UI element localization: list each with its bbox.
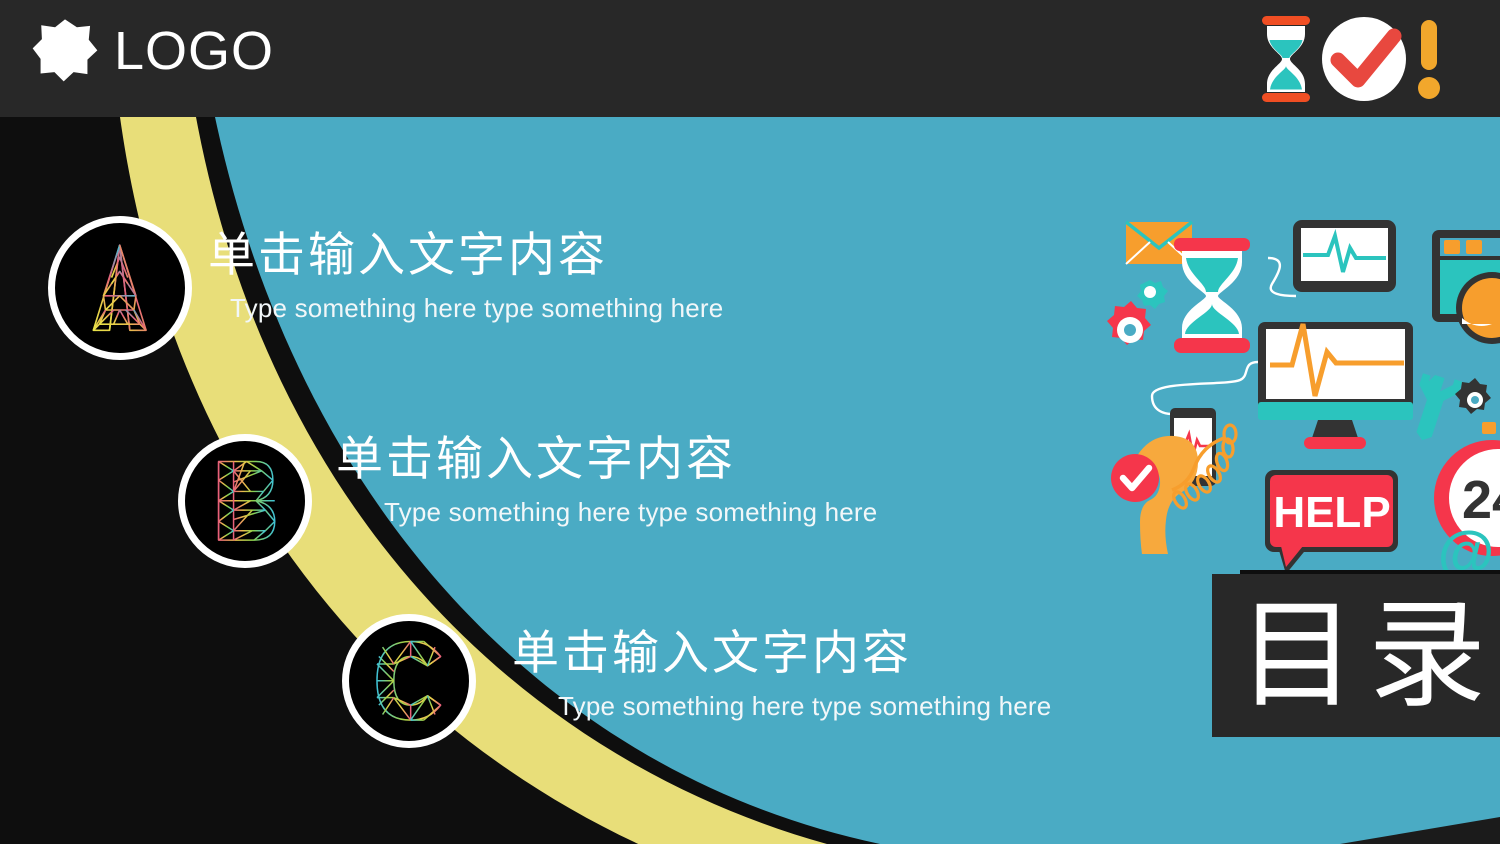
row-c-title[interactable]: 单击输入文字内容 bbox=[512, 626, 1051, 680]
help-label: HELP bbox=[1273, 488, 1390, 537]
logo-text: LOGO bbox=[114, 24, 274, 78]
content-row-b: 单击输入文字内容 Type something here type someth… bbox=[336, 432, 877, 529]
small-gear-icon bbox=[1137, 280, 1168, 309]
wireframe-letter-a-icon bbox=[69, 237, 170, 338]
badge-a[interactable] bbox=[48, 216, 192, 360]
help-speech-bubble: HELP bbox=[1265, 470, 1398, 574]
wireframe-letter-b-icon bbox=[198, 454, 292, 548]
row-c-subtitle[interactable]: Type something here type something here bbox=[558, 690, 1051, 723]
wireframe-letter-c-icon bbox=[362, 634, 456, 728]
header-icon-group bbox=[1260, 14, 1442, 104]
hourglass-icon bbox=[1174, 238, 1250, 353]
row-a-subtitle[interactable]: Type something here type something here bbox=[230, 292, 723, 325]
row-b-subtitle[interactable]: Type something here type something here bbox=[384, 496, 877, 529]
badge-c[interactable] bbox=[342, 614, 476, 748]
content-row-c: 单击输入文字内容 Type something here type someth… bbox=[512, 626, 1051, 723]
content-row-a: 单击输入文字内容 Type something here type someth… bbox=[208, 228, 723, 325]
slide-canvas: LOGO bbox=[0, 0, 1500, 844]
monitor-pulse-icon bbox=[1258, 322, 1413, 449]
seven-point-star-icon bbox=[32, 18, 98, 84]
row-a-title[interactable]: 单击输入文字内容 bbox=[208, 228, 723, 282]
check-circle-icon bbox=[1320, 14, 1408, 104]
contents-title: 目录 bbox=[1238, 597, 1498, 715]
laptop-pulse-icon bbox=[1293, 220, 1396, 292]
contents-title-box[interactable]: 目录 bbox=[1212, 574, 1500, 737]
gear-icon bbox=[1107, 301, 1151, 345]
check-circle-icon bbox=[1111, 454, 1159, 502]
hourglass-icon bbox=[1260, 14, 1312, 104]
header-bar: LOGO bbox=[0, 0, 1500, 117]
badge-b[interactable] bbox=[178, 434, 312, 568]
support-illustration: HELP bbox=[1100, 200, 1500, 580]
exclamation-icon bbox=[1416, 14, 1442, 104]
logo[interactable]: LOGO bbox=[32, 18, 274, 84]
row-b-title[interactable]: 单击输入文字内容 bbox=[336, 432, 877, 486]
